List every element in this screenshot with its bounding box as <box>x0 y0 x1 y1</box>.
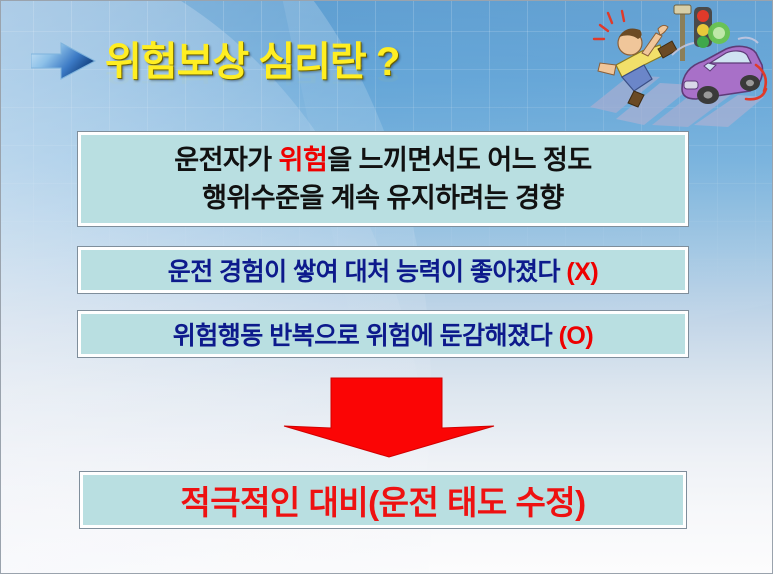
statement-x-box: 운전 경험이 쌓여 대처 능력이 좋아졌다 (X) <box>77 246 689 294</box>
down-arrow-icon <box>282 376 496 459</box>
conclusion-box: 적극적인 대비(운전 태도 수정) <box>79 471 687 529</box>
statement-o-mark: (O) <box>559 322 594 350</box>
definition-highlight-risk: 위험 <box>279 145 328 175</box>
definition-box: 운전자가 위험을 느끼면서도 어느 정도 행위수준을 계속 유지하려는 경향 <box>77 131 689 227</box>
statement-o-text: 위험행동 반복으로 위험에 둔감해졌다 <box>173 322 559 350</box>
statement-x-text: 운전 경험이 쌓여 대처 능력이 좋아졌다 <box>168 258 567 286</box>
slide-title-row: 위험보상 심리란 ? 위험보상 심리란 ? <box>1 29 521 91</box>
conclusion-text: 적극적인 대비(운전 태도 수정) <box>180 476 585 524</box>
presentation-slide: 위험보상 심리란 ? 위험보상 심리란 ? <box>0 0 773 574</box>
definition-line-1: 운전자가 위험을 느끼면서도 어느 정도 <box>174 141 591 179</box>
definition-line-1-pre: 운전자가 <box>174 145 278 175</box>
statement-x-mark: (X) <box>566 258 598 286</box>
definition-line-2: 행위수준을 계속 유지하려는 경향 <box>174 179 591 217</box>
statement-o-box: 위험행동 반복으로 위험에 둔감해졌다 (O) <box>77 310 689 358</box>
car-accident-clipart <box>586 3 768 127</box>
page-title: 위험보상 심리란 ? <box>105 29 399 87</box>
statement-x-line: 운전 경험이 쌓여 대처 능력이 좋아졌다 (X) <box>168 252 599 288</box>
definition-line-1-post: 을 느끼면서도 어느 정도 <box>327 145 591 175</box>
right-arrow-icon <box>31 41 97 81</box>
statement-o-line: 위험행동 반복으로 위험에 둔감해졌다 (O) <box>173 316 593 352</box>
